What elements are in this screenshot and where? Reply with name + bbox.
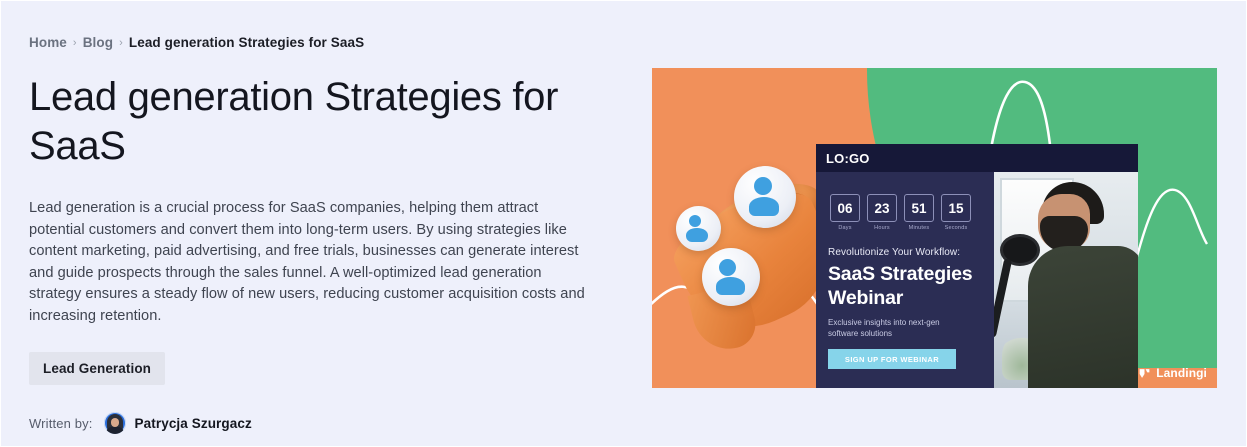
coin-body (716, 277, 745, 295)
countdown-cell-days: 06 Days (830, 194, 860, 231)
photo-person-body (1028, 246, 1138, 388)
author-name[interactable]: Patrycja Szurgacz (135, 416, 252, 431)
category-tag-lead-generation[interactable]: Lead Generation (29, 352, 165, 385)
chevron-right-icon: › (119, 38, 123, 49)
coin-body (686, 228, 708, 242)
countdown-value-minutes: 51 (904, 194, 934, 222)
countdown-value-days: 06 (830, 194, 860, 222)
countdown-cell-hours: 23 Hours (867, 194, 897, 231)
tag-row: Lead Generation (29, 352, 629, 385)
landingi-brand-name: Landingi (1156, 366, 1207, 380)
countdown-label-days: Days (830, 225, 860, 231)
mockup-topbar: LO:GO (816, 144, 1138, 172)
coin-head (719, 259, 736, 276)
countdown-timer: 06 Days 23 Hours 51 Minutes 15 Seconds (830, 194, 984, 231)
article-text-column: Home › Blog › Lead generation Strategies… (29, 35, 629, 447)
countdown-label-seconds: Seconds (941, 225, 971, 231)
breadcrumb-item-home[interactable]: Home (29, 36, 67, 50)
coin-head (689, 215, 701, 227)
countdown-label-hours: Hours (867, 225, 897, 231)
avatar-face (111, 418, 119, 427)
author-row: Written by: Patrycja Szurgacz (29, 412, 629, 434)
user-avatar-coin-icon (676, 206, 721, 251)
landing-page-mockup: LO:GO 06 Days 23 (816, 144, 1138, 388)
landingi-logo-icon (1138, 367, 1151, 380)
countdown-value-hours: 23 (867, 194, 897, 222)
article-hero-page: Home › Blog › Lead generation Strategies… (0, 0, 1247, 447)
mockup-signup-button[interactable]: SIGN UP FOR WEBINAR (828, 349, 956, 369)
countdown-label-minutes: Minutes (904, 225, 934, 231)
written-by-label: Written by: (29, 416, 93, 431)
countdown-value-seconds: 15 (941, 194, 971, 222)
landingi-brand-badge: Landingi (1138, 366, 1207, 380)
mockup-kicker: Revolutionize Your Workflow: (828, 247, 984, 258)
author-avatar (104, 412, 126, 434)
chevron-right-icon: › (73, 38, 77, 49)
coin-body (749, 197, 779, 216)
mockup-logo: LO:GO (826, 151, 870, 166)
breadcrumb-item-blog[interactable]: Blog (83, 36, 113, 50)
breadcrumb-item-current: Lead generation Strategies for SaaS (129, 36, 364, 50)
page-title: Lead generation Strategies for SaaS (29, 73, 589, 171)
countdown-cell-minutes: 51 Minutes (904, 194, 934, 231)
mockup-content: 06 Days 23 Hours 51 Minutes 15 Seconds (816, 172, 994, 388)
user-avatar-coin-icon (702, 248, 760, 306)
avatar-body (106, 427, 124, 434)
mockup-subheadline: Exclusive insights into next-gen softwar… (828, 317, 948, 339)
mockup-headline: SaaS Strategies Webinar (828, 262, 984, 310)
breadcrumb: Home › Blog › Lead generation Strategies… (29, 35, 629, 51)
article-intro-paragraph: Lead generation is a crucial process for… (29, 198, 595, 327)
countdown-cell-seconds: 15 Seconds (941, 194, 971, 231)
user-avatar-coin-icon (734, 166, 796, 228)
mockup-speaker-photo (994, 172, 1138, 388)
coin-head (754, 177, 772, 195)
hero-image: LO:GO 06 Days 23 (652, 68, 1217, 388)
